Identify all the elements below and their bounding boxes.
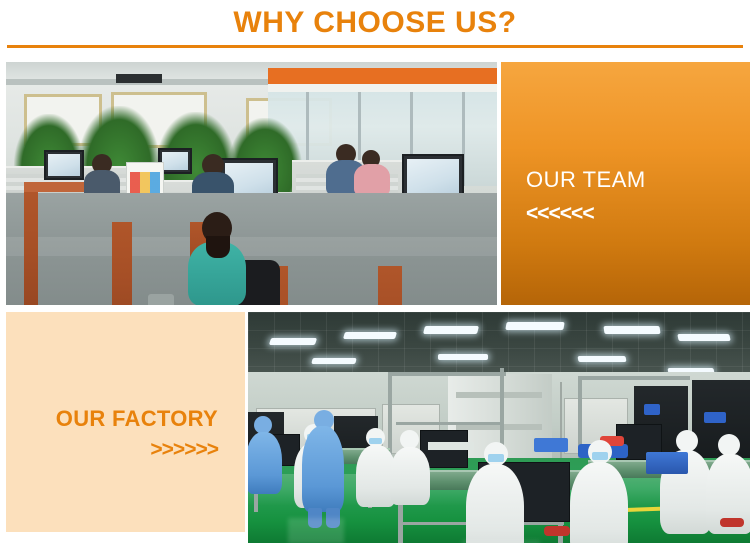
office-photo [6,62,497,305]
factory-illustration [248,312,750,543]
team-left-arrows: <<<<<< [526,202,594,226]
title-divider [7,45,743,48]
page-title: WHY CHOOSE US? [0,4,750,42]
our-team-panel[interactable]: OUR TEAM <<<<<< [501,62,750,305]
office-illustration [6,62,497,305]
our-factory-panel[interactable]: OUR FACTORY >>>>>> [6,312,245,532]
factory-photo [248,312,750,543]
our-team-label: OUR TEAM [526,167,646,193]
why-choose-us-section: WHY CHOOSE US? [0,0,750,543]
our-factory-label: OUR FACTORY [56,406,218,432]
factory-right-arrows: >>>>>> [150,438,218,462]
